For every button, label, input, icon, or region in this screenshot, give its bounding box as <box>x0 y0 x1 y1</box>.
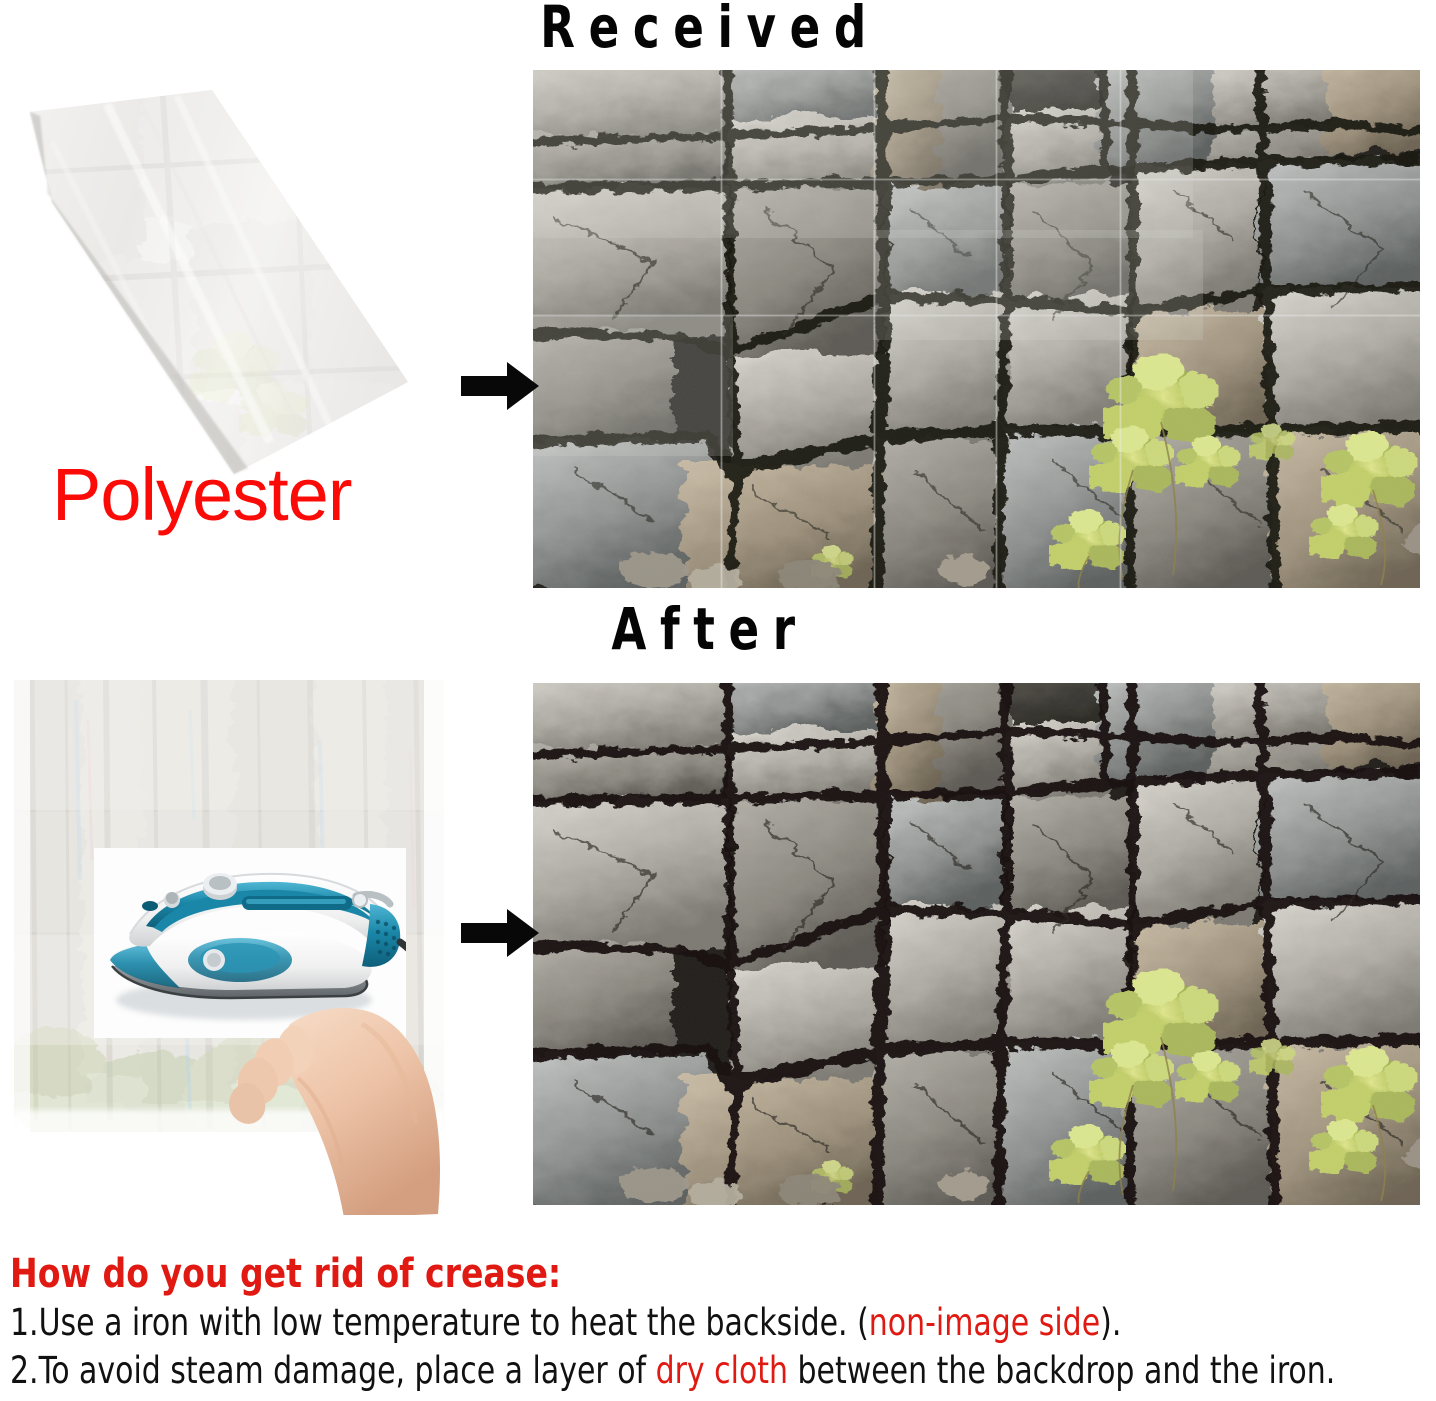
howto-block: How do you get rid of crease: 1.Use a ir… <box>10 1252 1430 1394</box>
howto-step-2-highlight: dry cloth <box>656 1349 788 1392</box>
section-title-received: Received <box>437 0 983 56</box>
howto-step-1-b: ). <box>1100 1301 1121 1344</box>
material-label-polyester: Polyester <box>52 458 351 532</box>
right-arrow-icon <box>459 905 541 961</box>
howto-step-2: 2.To avoid steam damage, place a layer o… <box>10 1349 1288 1393</box>
folded-fabric-swatch <box>12 82 432 482</box>
howto-heading: How do you get rid of crease: <box>10 1252 1316 1297</box>
photo-ironing-demo <box>14 680 444 1215</box>
howto-step-1-a: 1.Use a iron with low temperature to hea… <box>10 1301 869 1344</box>
hand-icon <box>194 928 444 1215</box>
section-title-after: After <box>507 600 913 658</box>
photo-received-backdrop <box>533 70 1420 588</box>
howto-step-2-b: between the backdrop and the iron. <box>788 1349 1335 1392</box>
photo-after-backdrop <box>533 683 1420 1205</box>
howto-step-2-a: 2.To avoid steam damage, place a layer o… <box>10 1349 656 1392</box>
right-arrow-icon <box>459 358 541 414</box>
howto-step-1: 1.Use a iron with low temperature to hea… <box>10 1301 1288 1345</box>
howto-step-1-highlight: non-image side <box>869 1301 1100 1344</box>
